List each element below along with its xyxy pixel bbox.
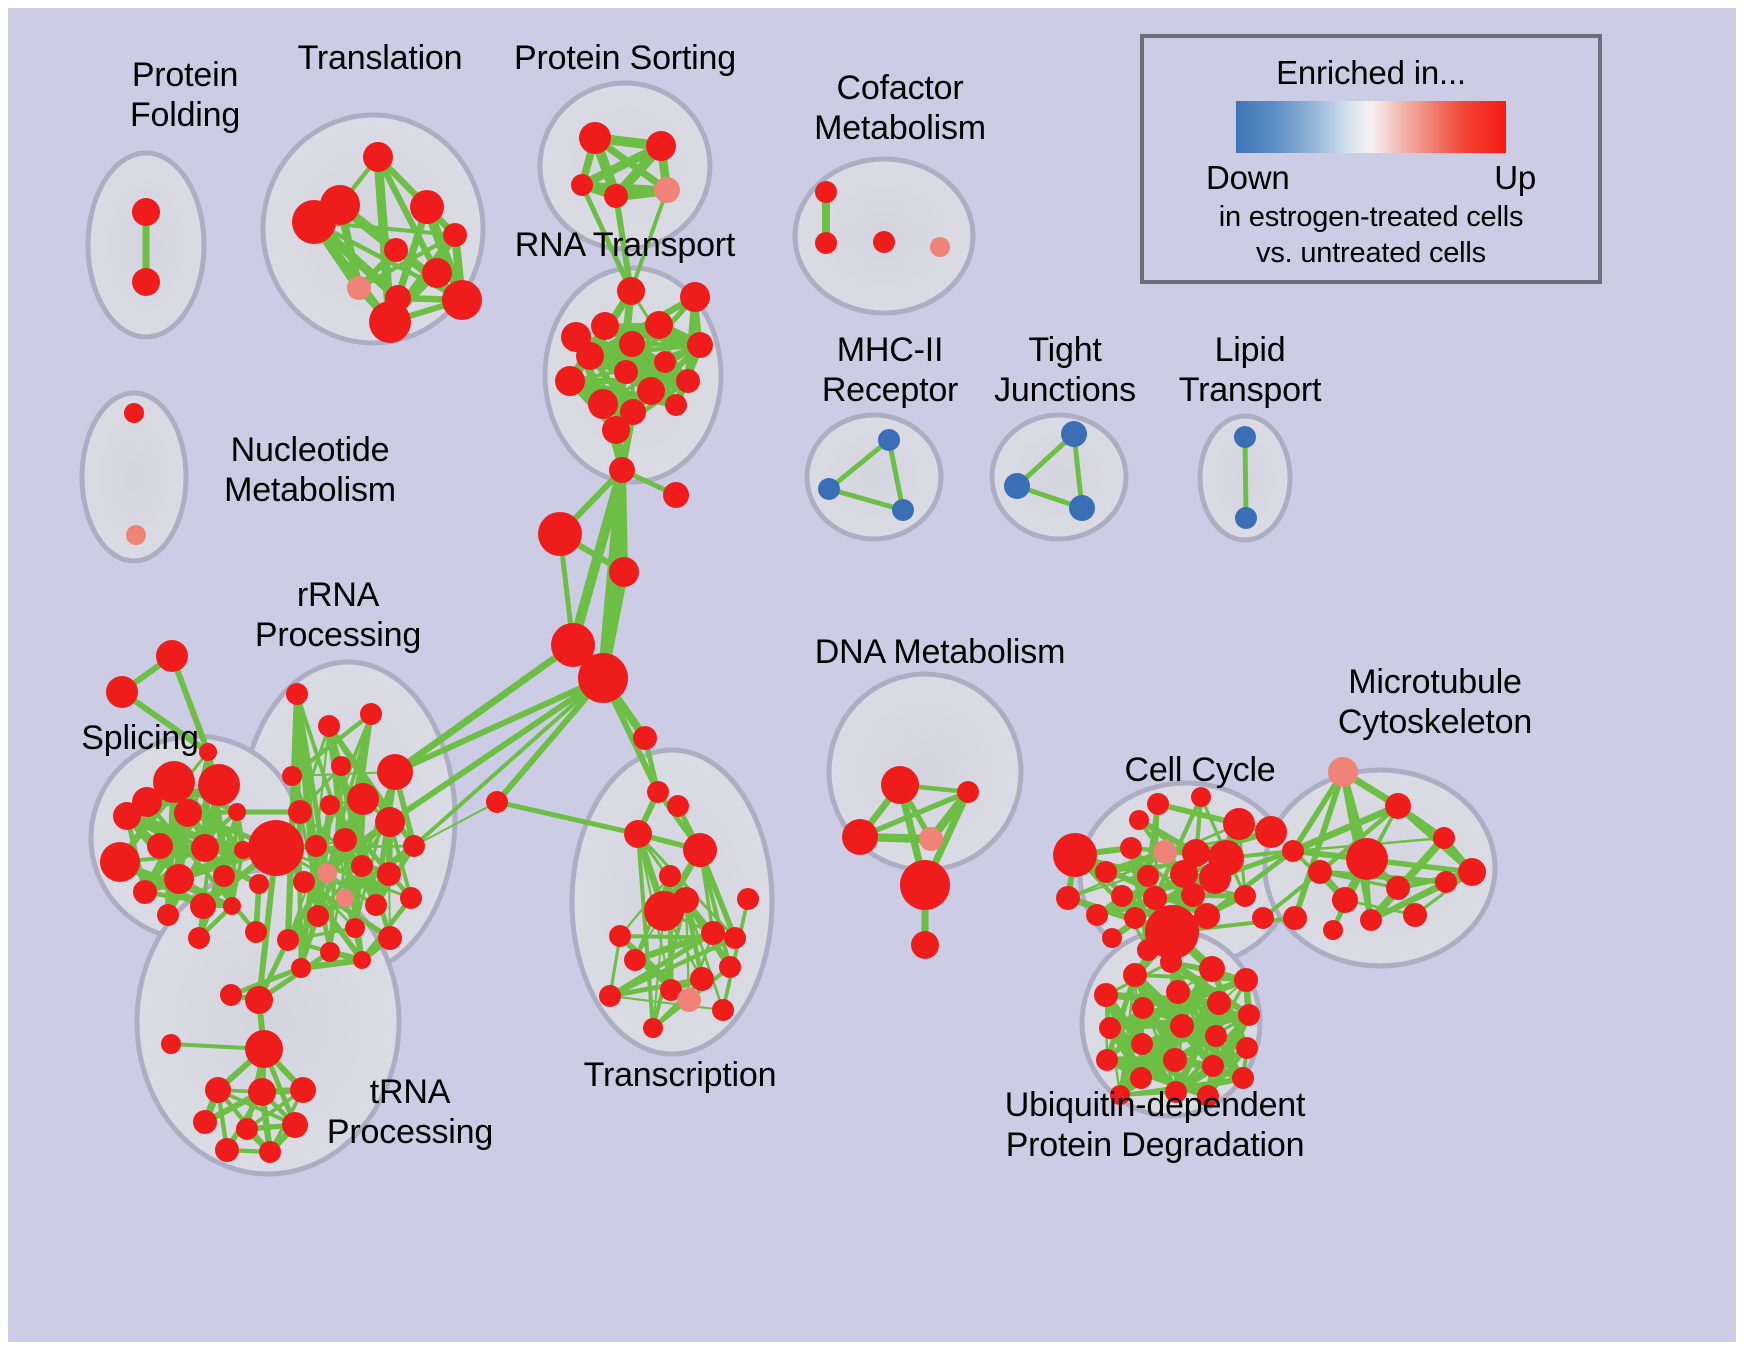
network-node: [1202, 1055, 1224, 1077]
network-node: [1129, 810, 1149, 830]
network-node: [1069, 495, 1095, 521]
network-node: [236, 1118, 258, 1140]
network-node: [375, 807, 405, 837]
network-node: [680, 282, 710, 312]
network-node: [1095, 861, 1117, 883]
network-node: [1170, 1014, 1194, 1038]
network-node: [377, 862, 401, 886]
network-node: [1234, 426, 1256, 448]
network-node: [957, 781, 979, 803]
cluster-label-rna-transport: RNA Transport: [495, 225, 755, 265]
cluster-label-splicing: Splicing: [50, 718, 230, 758]
network-node: [1147, 793, 1169, 815]
network-node: [663, 482, 689, 508]
network-node: [609, 457, 635, 483]
network-node: [307, 905, 329, 927]
legend-low-label: Down: [1206, 159, 1290, 197]
network-node: [248, 820, 304, 876]
network-node: [665, 394, 687, 416]
network-node: [690, 967, 714, 991]
cluster-label-trna-processing: tRNA Processing: [295, 1072, 525, 1152]
network-node: [602, 416, 630, 444]
cluster-label-cell-cycle: Cell Cycle: [1090, 750, 1310, 790]
network-node: [228, 803, 246, 821]
network-node: [1223, 808, 1255, 840]
network-node: [701, 921, 725, 945]
network-node: [1191, 787, 1211, 807]
network-node: [347, 783, 379, 815]
network-node: [400, 887, 422, 909]
network-node: [667, 795, 689, 817]
network-node: [712, 999, 734, 1021]
network-node: [133, 880, 157, 904]
network-node: [1332, 887, 1358, 913]
network-node: [286, 683, 308, 705]
network-node: [126, 525, 146, 545]
network-node: [687, 332, 713, 358]
network-node: [1102, 928, 1122, 948]
network-node: [881, 766, 919, 804]
network-node: [1194, 903, 1220, 929]
network-node: [1123, 963, 1147, 987]
network-node: [633, 726, 657, 750]
network-node: [1386, 876, 1410, 900]
network-node: [443, 223, 467, 247]
network-node: [215, 1138, 239, 1162]
network-node: [677, 988, 701, 1012]
network-node: [365, 894, 387, 916]
network-node: [1111, 885, 1133, 907]
network-node: [193, 1110, 217, 1134]
network-node: [624, 820, 652, 848]
network-node: [1403, 903, 1427, 927]
network-node: [576, 342, 604, 370]
network-node: [1433, 827, 1455, 849]
network-node: [1255, 816, 1287, 848]
network-node: [351, 855, 373, 877]
network-node: [164, 864, 194, 894]
network-node: [132, 198, 160, 226]
network-node: [1308, 860, 1332, 884]
network-node: [1086, 904, 1108, 926]
network-node: [683, 833, 717, 867]
network-node: [318, 715, 340, 737]
network-node: [1385, 793, 1411, 819]
network-node: [1181, 883, 1205, 907]
network-node: [1132, 997, 1154, 1019]
network-node: [282, 766, 302, 786]
network-node: [124, 403, 144, 423]
network-node: [384, 238, 408, 262]
cluster-label-dna-metabolism: DNA Metabolism: [800, 632, 1080, 672]
network-node: [878, 429, 900, 451]
network-node: [1458, 858, 1486, 886]
network-node: [619, 331, 645, 357]
cluster-label-protein-sorting: Protein Sorting: [495, 38, 755, 78]
legend-endpoints: Down Up: [1206, 159, 1536, 197]
network-node: [604, 184, 628, 208]
network-node: [113, 802, 141, 830]
network-node: [191, 834, 219, 862]
network-node: [892, 499, 914, 521]
network-node: [198, 764, 240, 806]
network-node: [293, 871, 315, 893]
network-node: [174, 799, 202, 827]
network-node: [1160, 951, 1182, 973]
network-node: [591, 312, 619, 340]
network-node: [410, 190, 444, 224]
network-node: [1328, 757, 1358, 787]
network-node: [1252, 907, 1274, 929]
cluster-label-rrna-processing: rRNA Processing: [228, 575, 448, 655]
cluster-label-cofactor-metabolism: Cofactor Metabolism: [785, 68, 1015, 148]
legend-panel: Enriched in... Down Up in estrogen-treat…: [1140, 34, 1602, 284]
network-node: [579, 122, 611, 154]
network-node: [1166, 980, 1190, 1004]
cluster-label-mhc-ii-receptor: MHC-II Receptor: [790, 330, 990, 410]
network-node: [624, 949, 646, 971]
network-node: [919, 827, 943, 851]
network-node: [1283, 906, 1307, 930]
network-node: [245, 1030, 283, 1068]
legend-color-bar: [1236, 101, 1506, 153]
network-node: [288, 800, 312, 824]
network-node: [1205, 1025, 1227, 1047]
network-node: [1207, 991, 1231, 1015]
network-node: [1096, 1049, 1118, 1071]
network-node: [659, 865, 681, 887]
network-node: [1360, 909, 1382, 931]
network-node: [245, 986, 273, 1014]
network-node: [249, 874, 269, 894]
network-node: [555, 366, 585, 396]
network-node: [369, 301, 411, 343]
network-node: [360, 703, 382, 725]
network-node: [377, 754, 413, 790]
network-node: [609, 925, 631, 947]
network-node: [643, 1018, 663, 1038]
network-node: [818, 478, 840, 500]
network-node: [646, 131, 676, 161]
network-node: [1236, 1037, 1258, 1059]
network-node: [277, 929, 299, 951]
network-node: [1234, 968, 1258, 992]
network-node: [1153, 840, 1177, 864]
network-node: [1124, 907, 1146, 929]
network-node: [588, 389, 618, 419]
network-node: [1323, 920, 1343, 940]
cluster-label-nucleotide-metabolism: Nucleotide Metabolism: [180, 430, 440, 510]
network-node: [1120, 837, 1142, 859]
network-node: [654, 177, 680, 203]
network-node: [245, 921, 267, 943]
network-node: [719, 956, 741, 978]
network-node: [1056, 886, 1080, 910]
cluster-label-lipid-transport: Lipid Transport: [1150, 330, 1350, 410]
network-node: [331, 756, 351, 776]
network-node: [676, 369, 700, 393]
legend-high-label: Up: [1494, 159, 1536, 197]
network-node: [157, 904, 179, 926]
cluster-label-microtubule-cytoskeleton: Microtubule Cytoskeleton: [1300, 662, 1570, 742]
legend-title: Enriched in...: [1276, 54, 1466, 92]
network-node: [1435, 871, 1457, 893]
network-node: [486, 791, 508, 813]
network-node: [305, 835, 327, 857]
network-node: [614, 360, 638, 384]
network-node: [347, 276, 371, 300]
network-node: [873, 231, 895, 253]
network-node: [190, 893, 216, 919]
network-node: [538, 512, 582, 556]
network-node: [223, 897, 241, 915]
network-node: [815, 232, 837, 254]
enrichment-map-figure: Protein FoldingTranslationProtein Sortin…: [0, 0, 1750, 1360]
network-node: [571, 174, 593, 196]
network-node: [637, 377, 665, 405]
network-node: [363, 142, 393, 172]
network-node: [213, 865, 235, 887]
network-node: [842, 819, 878, 855]
network-node: [599, 985, 621, 1007]
network-node: [132, 268, 160, 296]
network-node: [1163, 1048, 1187, 1072]
network-node: [317, 863, 337, 883]
network-node: [147, 833, 173, 859]
network-node: [220, 984, 242, 1006]
network-node: [724, 927, 746, 949]
network-node: [333, 828, 357, 852]
network-node: [320, 795, 340, 815]
network-node: [737, 888, 759, 910]
network-node: [291, 958, 311, 978]
network-node: [1004, 473, 1030, 499]
network-node: [930, 237, 950, 257]
network-node: [815, 181, 837, 203]
network-node: [1131, 1033, 1153, 1055]
cluster-label-translation: Translation: [265, 38, 495, 78]
network-node: [259, 1141, 281, 1163]
network-node: [106, 676, 138, 708]
network-node: [1053, 833, 1097, 877]
network-node: [1282, 840, 1304, 862]
network-node: [1199, 862, 1231, 894]
cluster-label-protein-folding: Protein Folding: [75, 55, 295, 135]
network-node: [353, 951, 371, 969]
network-node: [345, 918, 365, 938]
network-node: [1061, 421, 1087, 447]
network-node: [1137, 939, 1159, 961]
cluster-label-ubiquitin-degradation: Ubiquitin-dependent Protein Degradation: [985, 1085, 1325, 1165]
network-node: [161, 1034, 181, 1054]
network-node: [1346, 838, 1388, 880]
cluster-label-transcription: Transcription: [555, 1055, 805, 1095]
legend-subtitle: in estrogen-treated cells vs. untreated …: [1219, 199, 1524, 271]
network-node: [654, 351, 676, 373]
network-node: [1238, 1004, 1260, 1026]
network-node: [1234, 885, 1256, 907]
network-node: [647, 781, 669, 803]
network-node: [1094, 983, 1118, 1007]
network-edge: [1245, 437, 1246, 518]
network-node: [1235, 507, 1257, 529]
network-node: [336, 889, 354, 907]
network-node: [1137, 865, 1159, 887]
network-node: [1099, 1017, 1121, 1039]
network-node: [645, 311, 673, 339]
network-node: [188, 927, 210, 949]
network-node: [609, 557, 639, 587]
network-node: [156, 640, 188, 672]
network-node: [403, 835, 425, 857]
network-node: [644, 891, 684, 931]
cluster-hull-mhc-ii-receptor: [807, 415, 941, 539]
network-node: [442, 280, 482, 320]
network-node: [100, 842, 140, 882]
network-node: [1143, 886, 1167, 910]
network-node: [378, 926, 402, 950]
network-node: [617, 277, 645, 305]
network-node: [248, 1078, 276, 1106]
network-node: [578, 653, 628, 703]
cluster-label-tight-junctions: Tight Junctions: [965, 330, 1165, 410]
network-node: [900, 860, 950, 910]
network-node: [1199, 956, 1225, 982]
network-node: [205, 1077, 231, 1103]
network-node: [292, 200, 336, 244]
network-node: [320, 942, 340, 962]
network-node: [911, 931, 939, 959]
network-node: [422, 258, 452, 288]
